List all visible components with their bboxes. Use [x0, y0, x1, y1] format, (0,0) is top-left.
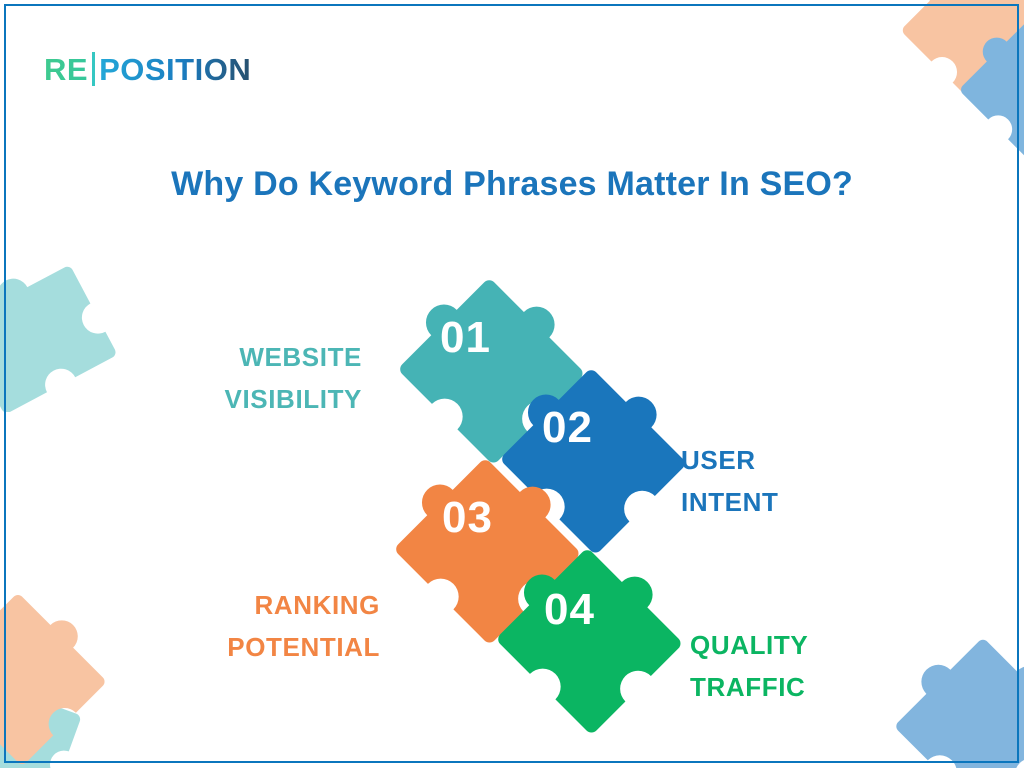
brand-logo: RE POSITION — [44, 52, 251, 86]
puzzle-label-quality-traffic: QUALITY TRAFFIC — [690, 624, 808, 708]
logo-divider-bar — [92, 52, 95, 86]
slide-canvas: RE POSITION Why Do Keyword Phrases Matte… — [0, 0, 1024, 768]
logo-text-position: POSITION — [99, 54, 251, 85]
puzzle-label-ranking-potential: RANKING POTENTIAL — [227, 584, 380, 668]
puzzle-diagram: 01 02 03 04 — [0, 0, 1024, 768]
puzzle-label-website-visibility: WEBSITE VISIBILITY — [225, 336, 362, 420]
puzzle-label-user-intent: USER INTENT — [681, 439, 778, 523]
puzzle-piece-04[interactable] — [480, 532, 710, 762]
page-title: Why Do Keyword Phrases Matter In SEO? — [0, 165, 1024, 204]
logo-text-re: RE — [44, 54, 88, 85]
